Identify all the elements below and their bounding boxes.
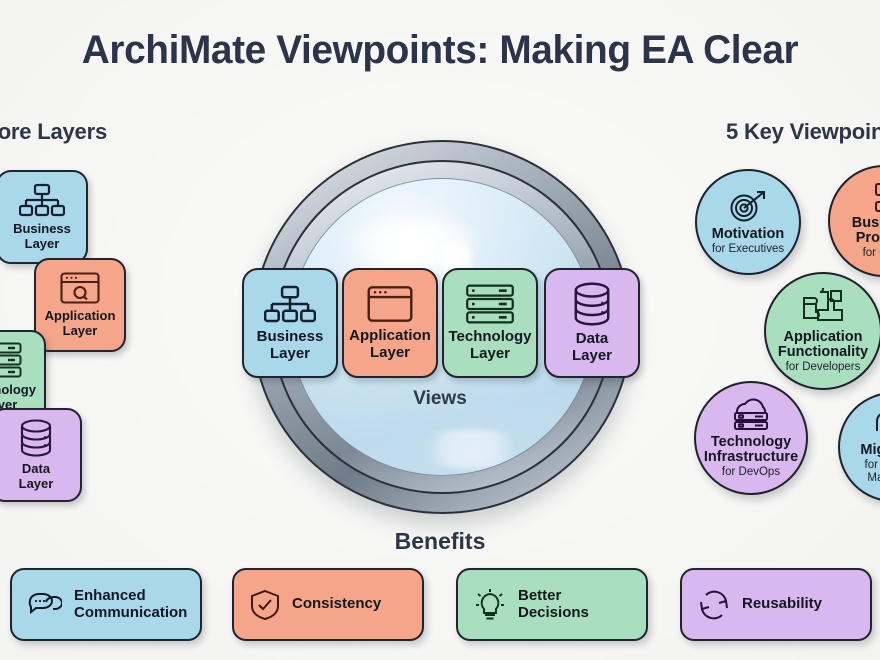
browser-window-icon xyxy=(367,285,413,323)
org-chart-icon xyxy=(264,284,316,324)
left-card-data[interactable]: Data Layer xyxy=(0,408,82,502)
center-card-label: Technology Layer xyxy=(448,329,531,363)
target-arrow-icon xyxy=(727,189,769,223)
benefit-label: Enhanced Communication xyxy=(74,588,187,622)
center-card-label: Data Layer xyxy=(572,331,612,365)
benefit-enhanced-communication[interactable]: Enhanced Communication xyxy=(10,568,202,641)
left-card-label: Application Layer xyxy=(45,309,116,338)
left-card-business[interactable]: Business Layer xyxy=(0,170,88,264)
server-rack-icon xyxy=(0,342,22,378)
migration-arrow-icon xyxy=(873,409,880,439)
left-card-application[interactable]: Application Layer xyxy=(34,258,126,352)
org-chart-icon xyxy=(19,183,65,217)
page-title: ArchiMate Viewpoints: Making EA Clear xyxy=(13,28,867,73)
refresh-cycle-icon xyxy=(698,589,730,621)
viewpoint-subtitle: for COO xyxy=(863,247,880,260)
center-card-data[interactable]: Data Layer xyxy=(544,268,640,378)
center-card-technology[interactable]: Technology Layer xyxy=(442,268,538,378)
left-card-label: Data Layer xyxy=(19,462,54,491)
database-cylinder-icon xyxy=(18,419,54,457)
viewpoint-title: Motivation xyxy=(712,227,785,242)
benefit-label: Consistency xyxy=(292,596,381,613)
benefit-label: Reusability xyxy=(742,596,822,613)
left-section-heading: Core Layers xyxy=(0,119,107,145)
lightbulb-icon xyxy=(474,588,506,622)
viewpoint-subtitle: for Developers xyxy=(786,361,861,374)
benefits-heading: Benefits xyxy=(0,528,880,555)
viewpoint-business-process[interactable]: Business Process for COO xyxy=(828,165,880,277)
benefit-better-decisions[interactable]: Better Decisions xyxy=(456,568,648,641)
viewpoint-application-functionality[interactable]: Application Functionality for Developers xyxy=(764,272,880,390)
viewpoint-title: Business Process xyxy=(852,216,880,246)
viewpoint-subtitle: for DevOps xyxy=(722,466,780,479)
center-card-business[interactable]: Business Layer xyxy=(242,268,338,378)
viewpoint-motivation[interactable]: Motivation for Executives xyxy=(695,169,801,275)
database-cylinder-icon xyxy=(571,282,613,326)
browser-window-icon xyxy=(60,272,100,304)
center-card-application[interactable]: Application Layer xyxy=(342,268,438,378)
viewpoint-title: Technology Infrastructure xyxy=(704,435,798,465)
benefit-consistency[interactable]: Consistency xyxy=(232,568,424,641)
speech-bubbles-icon xyxy=(28,590,62,620)
benefit-reusability[interactable]: Reusability xyxy=(680,568,872,641)
shield-check-icon xyxy=(250,589,280,621)
glass-reflection-icon xyxy=(411,429,531,469)
benefit-label: Better Decisions xyxy=(518,588,589,622)
viewpoint-subtitle: for Change Managers xyxy=(865,459,880,484)
process-flow-icon xyxy=(864,182,880,212)
cloud-server-icon xyxy=(727,397,775,431)
center-card-label: Business Layer xyxy=(257,329,324,363)
infographic-canvas: ArchiMate Viewpoints: Making EA Clear Co… xyxy=(0,0,880,660)
puzzle-pieces-icon xyxy=(800,288,846,326)
right-section-heading: 5 Key Viewpoints xyxy=(726,119,880,145)
center-card-label: Application Layer xyxy=(349,328,431,362)
viewpoint-subtitle: for Executives xyxy=(712,243,784,256)
viewpoint-title: Migration xyxy=(860,443,880,458)
viewpoint-technology-infrastructure[interactable]: Technology Infrastructure for DevOps xyxy=(694,381,808,495)
viewpoint-title: Application Functionality xyxy=(778,330,868,360)
server-rack-icon xyxy=(465,284,515,324)
left-card-label: Business Layer xyxy=(13,222,71,251)
